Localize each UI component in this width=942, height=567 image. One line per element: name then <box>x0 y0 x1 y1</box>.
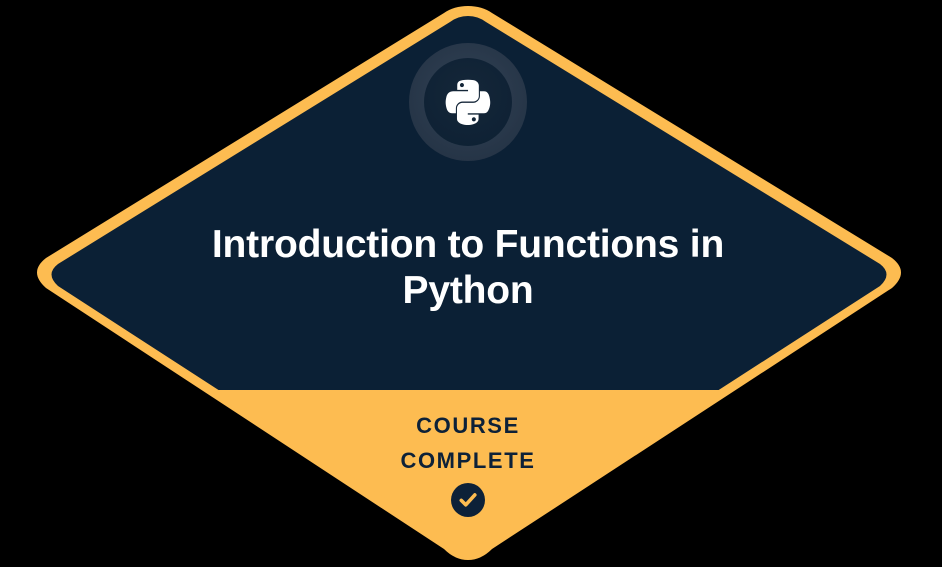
diamond-bottom-panel <box>0 390 942 567</box>
diamond-inner <box>0 0 942 567</box>
badge-graphic <box>0 0 942 567</box>
logo-rings <box>409 43 527 161</box>
badge-stage: Introduction to Functions in Python COUR… <box>0 0 942 567</box>
